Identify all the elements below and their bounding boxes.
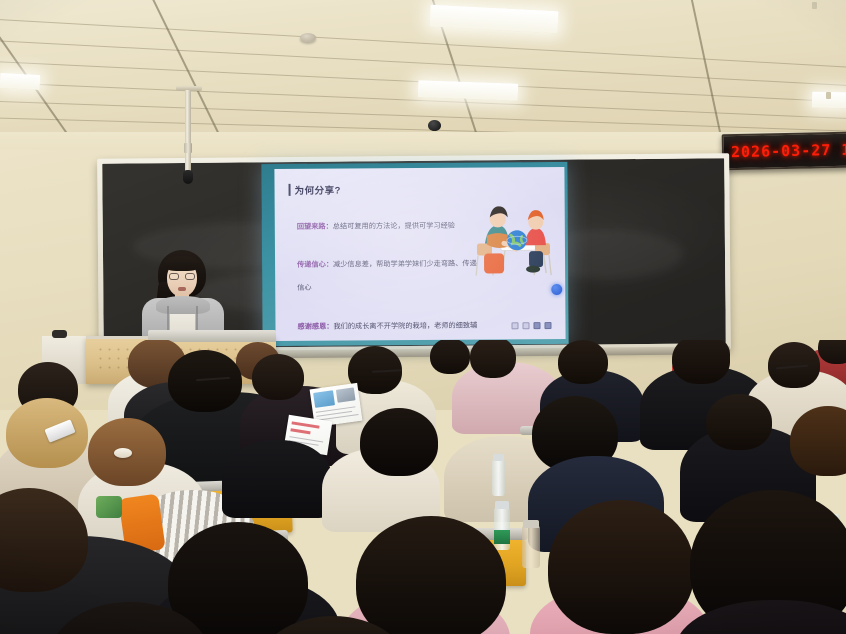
paragraph-key: 感谢感恩： <box>297 321 333 330</box>
slide-paragraph: 传递信心：减少信息差，帮助学弟学妹们少走弯路、传递信心 <box>297 250 477 298</box>
presenter-hood <box>156 296 210 314</box>
projection-screen: 为何分享? 回望来路：总结可复用的方法论，提供可学习经验 传递信心：减少信息差，… <box>261 162 568 346</box>
presentation-slide: 为何分享? 回望来路：总结可复用的方法论，提供可学习经验 传递信心：减少信息差，… <box>274 167 565 341</box>
ceiling-light-panel <box>430 5 559 34</box>
audience-head <box>548 500 694 634</box>
clock-display: 2026-03-27 14:5 <box>724 140 846 161</box>
paragraph-key: 回望来路： <box>297 222 333 231</box>
audience-head <box>360 408 438 476</box>
water-bottle <box>492 460 505 496</box>
audience-head <box>470 340 516 378</box>
tool-icon-2[interactable] <box>522 322 529 329</box>
tool-icon-3[interactable] <box>533 322 540 329</box>
led-wall-clock: 2026-03-27 14:5 <box>722 132 846 171</box>
ceiling-light-panel <box>418 80 519 100</box>
water-bottle <box>522 526 540 568</box>
bottle-cap <box>523 520 539 528</box>
hair-clip <box>114 448 132 458</box>
presenter-mouth <box>178 287 186 291</box>
lecture-hall-photo: 2026-03-27 14:5 为何分享? 回望来路：总结可复用的方法论，提供可… <box>0 0 846 634</box>
tool-icon-1[interactable] <box>511 322 518 329</box>
smoke-detector <box>300 33 316 42</box>
dome-camera <box>428 120 441 131</box>
pole-joint <box>184 143 192 153</box>
green-pattern <box>96 496 122 518</box>
slide-title-bar: 为何分享? <box>289 183 341 197</box>
audience-head <box>356 516 506 634</box>
audience-shoulders <box>222 440 332 518</box>
eyeglasses-icon <box>169 273 195 280</box>
audience-head <box>168 522 308 634</box>
sprinkler-head <box>812 2 817 9</box>
audience-head <box>706 394 772 450</box>
bottle-label <box>494 530 510 544</box>
students-discussion-globe-icon <box>471 199 560 292</box>
paragraph-text: 总结可复用的方法论，提供可学习经验 <box>333 221 455 231</box>
ceiling-microphone-pole <box>185 90 191 172</box>
slide-paragraph: 回望来路：总结可复用的方法论，提供可学习经验 <box>297 212 477 236</box>
audience-head <box>430 340 470 374</box>
title-tick-icon <box>289 184 291 196</box>
slide-body: 回望来路：总结可复用的方法论，提供可学习经验 传递信心：减少信息差，帮助学弟学妹… <box>297 212 478 341</box>
microphone-head-icon <box>183 170 193 184</box>
bottle-cap <box>495 501 509 509</box>
bottle-cap <box>493 454 504 461</box>
tool-icon-4[interactable] <box>544 322 551 329</box>
presenter-fringe <box>164 256 200 271</box>
ceiling <box>0 0 846 142</box>
audience <box>0 340 846 634</box>
ceiling-light-panel <box>0 73 40 90</box>
sprinkler-head <box>826 92 831 99</box>
slide-toolbar[interactable] <box>511 322 551 329</box>
audience-head <box>558 340 608 384</box>
slide-paragraph: 感谢感恩：我们的成长离不开学院的栽培，老师的细致辅导、资料提供、暖心关怀…… <box>297 311 477 341</box>
audience-head <box>252 354 304 400</box>
ai-assistant-badge[interactable] <box>551 284 562 295</box>
paragraph-key: 传递信心： <box>297 260 333 269</box>
audience-head <box>168 350 242 412</box>
audience-head <box>672 340 730 384</box>
slide-title: 为何分享? <box>295 183 341 197</box>
lectern-object <box>52 330 67 338</box>
